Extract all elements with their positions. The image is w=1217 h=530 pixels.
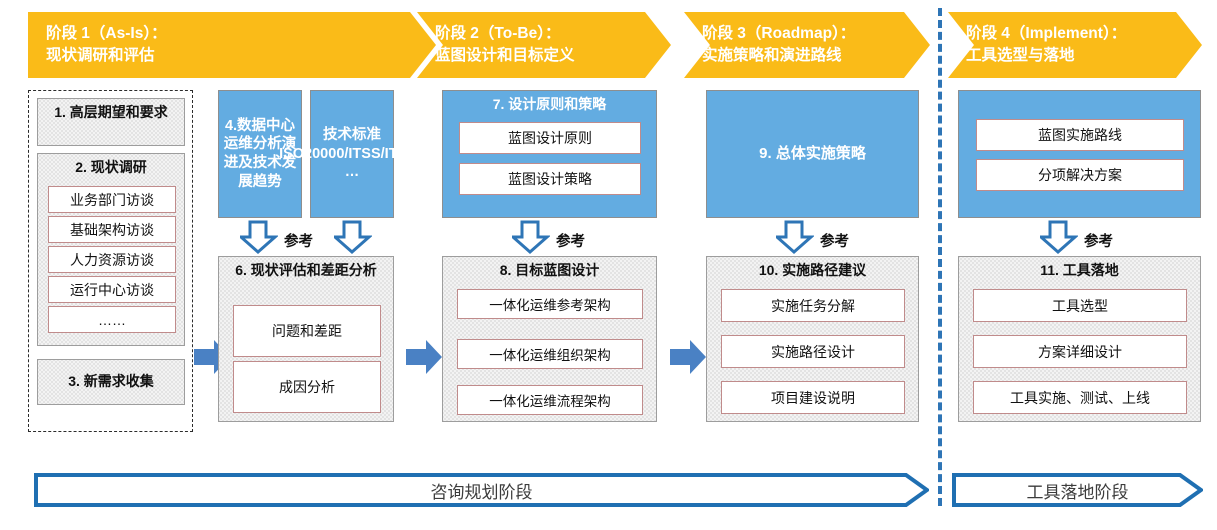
solution-item[interactable]: 分项解决方案 (976, 159, 1184, 191)
column-1-container: 1. 高层期望和要求 2. 现状调研 业务部门访谈 基础架构访谈 人力资源访谈 … (28, 90, 193, 432)
interview-item[interactable]: 基础架构访谈 (48, 216, 176, 243)
architecture-item[interactable]: 一体化运维参考架构 (457, 289, 643, 319)
tool-item[interactable]: 方案详细设计 (973, 335, 1187, 368)
phase-banner-1[interactable]: 阶段 1（As-Is）： 现状调研和评估 (28, 12, 436, 78)
phase-banner-4[interactable]: 阶段 4（Implement）： 工具选型与落地 (948, 12, 1202, 78)
blueprint-item[interactable]: 蓝图设计原则 (459, 122, 641, 154)
ribbon-consulting-phase[interactable]: 咨询规划阶段 (34, 473, 929, 507)
interview-item[interactable]: 业务部门访谈 (48, 186, 176, 213)
reference-label: 参考 (1084, 230, 1113, 251)
reference-label: 参考 (820, 230, 849, 251)
architecture-item[interactable]: 一体化运维组织架构 (457, 339, 643, 369)
box-9-title: 9. 总体实施策略 (759, 145, 866, 164)
gap-item[interactable]: 成因分析 (233, 361, 381, 413)
down-block-arrow-icon (1040, 220, 1078, 259)
interview-item[interactable]: 人力资源访谈 (48, 246, 176, 273)
box-3-title: 3. 新需求收集 (68, 373, 154, 391)
box-2-title: 2. 现状调研 (38, 154, 184, 180)
phase-banner-2[interactable]: 阶段 2（To-Be）： 蓝图设计和目标定义 (417, 12, 671, 78)
architecture-item[interactable]: 一体化运维流程架构 (457, 385, 643, 415)
box-6-title: 6. 现状评估和差距分析 (219, 257, 393, 283)
box-10-implementation-path-recommendation[interactable]: 10. 实施路径建议 实施任务分解 实施路径设计 项目建设说明 (706, 256, 919, 422)
box-1-high-level-expectations[interactable]: 1. 高层期望和要求 (37, 98, 185, 146)
solution-item[interactable]: 蓝图实施路线 (976, 119, 1184, 151)
box-7-design-principles-strategies[interactable]: 7. 设计原则和策略 蓝图设计原则 蓝图设计策略 (442, 90, 657, 218)
ribbon-consulting-label: 咨询规划阶段 (431, 478, 533, 503)
down-block-arrow-icon (240, 220, 278, 259)
tool-item[interactable]: 工具实施、测试、上线 (973, 381, 1187, 414)
phase-banner-1-line1: 阶段 1（As-Is）： (28, 23, 436, 45)
block-5-technical-standards[interactable]: 技术标准ISO20000/ITSS/ITIL… … (310, 90, 394, 218)
blueprint-item[interactable]: 蓝图设计策略 (459, 163, 641, 195)
box-8-target-blueprint-design[interactable]: 8. 目标蓝图设计 一体化运维参考架构 一体化运维组织架构 一体化运维流程架构 (442, 256, 657, 422)
ribbon-tooling-phase[interactable]: 工具落地阶段 (952, 473, 1203, 507)
phase-banner-3[interactable]: 阶段 3（Roadmap）： 实施策略和演进路线 (684, 12, 930, 78)
gap-item[interactable]: 问题和差距 (233, 305, 381, 357)
vertical-dashed-divider-icon (938, 8, 942, 506)
box-3-new-requirements[interactable]: 3. 新需求收集 (37, 359, 185, 405)
reference-label: 参考 (284, 230, 313, 251)
right-block-arrow-icon (668, 338, 708, 381)
interview-item-ellipsis[interactable]: …… (48, 306, 176, 333)
phase-banner-2-line1: 阶段 2（To-Be）： (417, 23, 671, 45)
phase-banner-2-line2: 蓝图设计和目标定义 (417, 45, 671, 67)
down-block-arrow-icon (776, 220, 814, 259)
ribbon-tooling-label: 工具落地阶段 (1027, 478, 1129, 503)
column-2-container: 4.数据中心运维分析演进及技术发展趋势 技术标准ISO20000/ITSS/IT… (218, 90, 400, 432)
box-10-title: 10. 实施路径建议 (707, 257, 918, 283)
box-11-tool-implementation[interactable]: 11. 工具落地 工具选型 方案详细设计 工具实施、测试、上线 (958, 256, 1201, 422)
down-block-arrow-icon (512, 220, 550, 259)
box-6-gap-analysis[interactable]: 6. 现状评估和差距分析 问题和差距 成因分析 (218, 256, 394, 422)
box-2-current-state-research[interactable]: 2. 现状调研 业务部门访谈 基础架构访谈 人力资源访谈 运行中心访谈 …… (37, 153, 185, 346)
box-9-overall-implementation-strategy[interactable]: 9. 总体实施策略 (706, 90, 919, 218)
box-11-title: 11. 工具落地 (959, 257, 1200, 283)
box-7-title: 7. 设计原则和策略 (443, 91, 656, 117)
column-5-container: 蓝图实施路线 分项解决方案 参考 11. 工具落地 工具选型 方案详细设计 工具… (958, 90, 1203, 432)
phase-banner-3-line2: 实施策略和演进路线 (684, 45, 930, 67)
column-3-container: 7. 设计原则和策略 蓝图设计原则 蓝图设计策略 参考 8. 目标蓝图设计 一体… (442, 90, 662, 432)
tool-item[interactable]: 工具选型 (973, 289, 1187, 322)
box-blueprint-implementation[interactable]: 蓝图实施路线 分项解决方案 (958, 90, 1201, 218)
implementation-item[interactable]: 实施路径设计 (721, 335, 905, 368)
phase-banner-4-line1: 阶段 4（Implement）： (948, 23, 1202, 45)
box-1-title: 1. 高层期望和要求 (38, 99, 184, 125)
phase-banner-1-line2: 现状调研和评估 (28, 45, 436, 67)
phase-banner-4-line2: 工具选型与落地 (948, 45, 1202, 67)
implementation-item[interactable]: 项目建设说明 (721, 381, 905, 414)
box-8-title: 8. 目标蓝图设计 (443, 257, 656, 283)
reference-label: 参考 (556, 230, 585, 251)
implementation-item[interactable]: 实施任务分解 (721, 289, 905, 322)
down-block-arrow-icon (334, 220, 372, 259)
column-4-container: 9. 总体实施策略 参考 10. 实施路径建议 实施任务分解 实施路径设计 项目… (706, 90, 921, 432)
phase-banner-3-line1: 阶段 3（Roadmap）： (684, 23, 930, 45)
interview-item[interactable]: 运行中心访谈 (48, 276, 176, 303)
right-block-arrow-icon (404, 338, 444, 381)
